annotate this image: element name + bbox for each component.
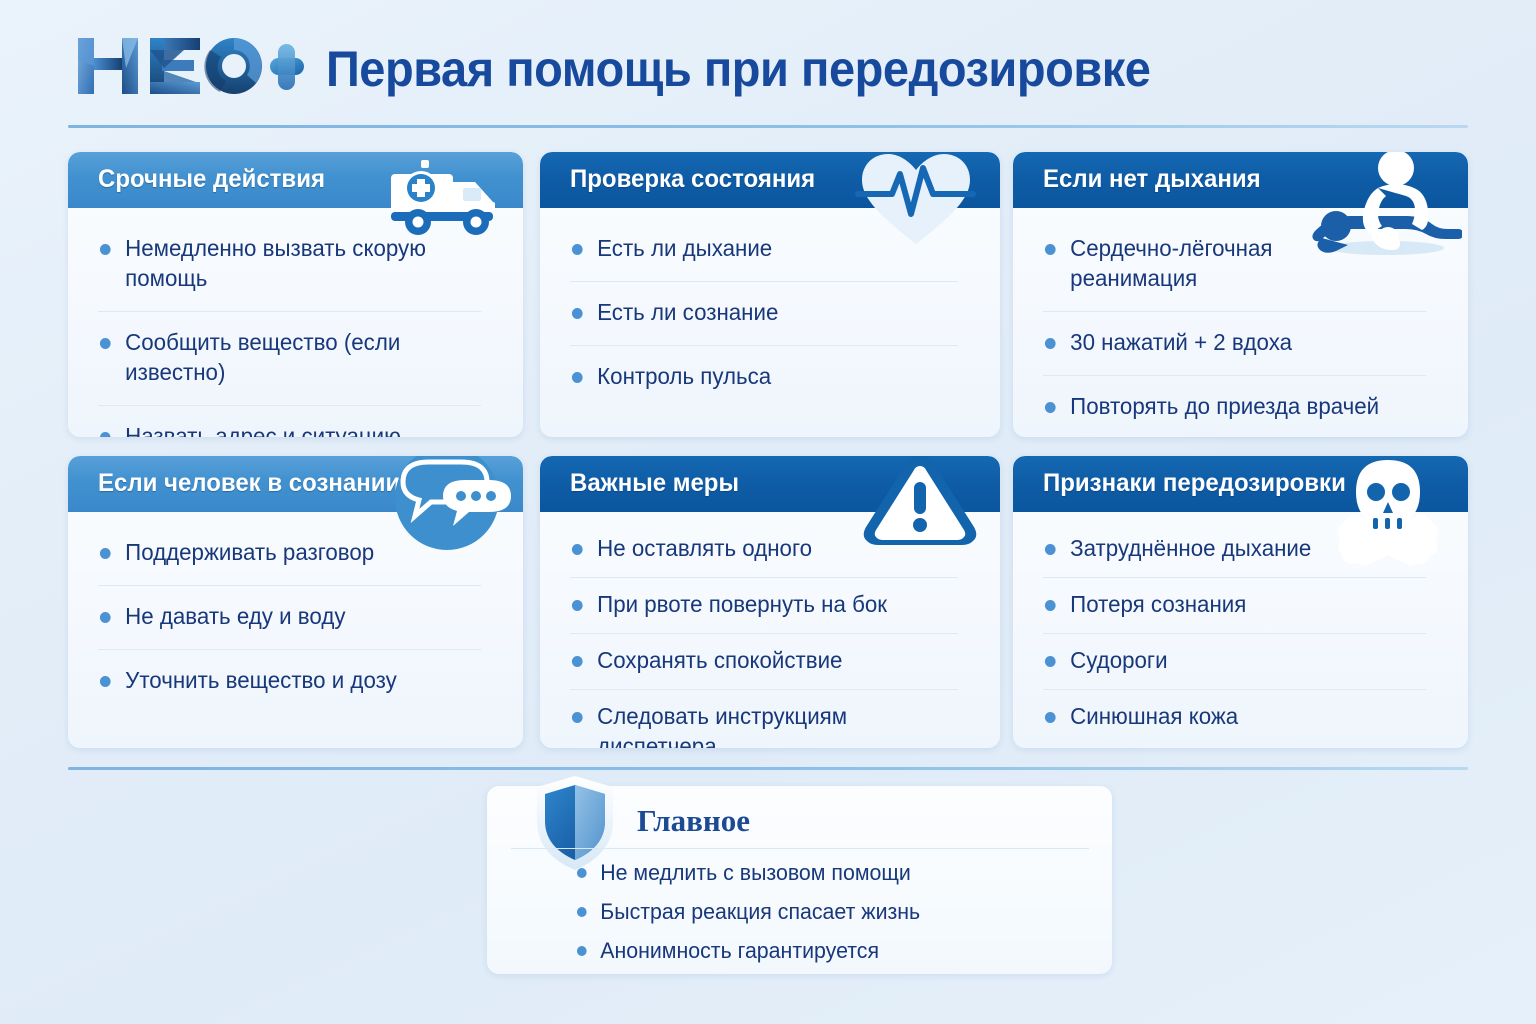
list-item-label: Уточнить вещество и дозу <box>125 667 397 693</box>
bullet-icon <box>577 907 587 917</box>
list-item[interactable]: Синюшная кожа <box>1043 702 1426 748</box>
bullet-icon <box>1045 338 1056 349</box>
bullet-icon <box>1045 600 1056 611</box>
list-item[interactable]: Назвать адрес и ситуацию <box>98 422 481 437</box>
bullet-icon <box>1045 402 1056 413</box>
bullet-icon <box>577 946 587 956</box>
list-item-label: Есть ли сознание <box>597 299 778 325</box>
bullet-icon <box>100 612 111 623</box>
list-item-label: Сохранять спокойствие <box>597 647 842 673</box>
list-item-label: 30 нажатий + 2 вдоха <box>1070 329 1292 355</box>
card-body: Не оставлять одного При рвоте повернуть … <box>540 512 1000 748</box>
card-urgent-actions[interactable]: Срочные действия <box>68 152 523 437</box>
list-item[interactable]: Сердечно-лёгочная реанимация <box>1043 234 1426 312</box>
bullet-icon <box>577 868 587 878</box>
card-header: Если нет дыхания <box>1013 152 1468 208</box>
list-item[interactable]: Поддерживать разговор <box>98 538 481 586</box>
card-no-breathing[interactable]: Если нет дыхания <box>1013 152 1468 437</box>
list-item-label: Не медлить с вызовом помощи <box>600 860 911 885</box>
bullet-icon <box>572 712 583 723</box>
list-item[interactable]: Судороги <box>1043 646 1426 690</box>
list-item[interactable]: Немедленно вызвать скорую помощь <box>98 234 481 312</box>
list-item-label: Повторять до приезда врачей <box>1070 393 1379 419</box>
list-item-label: Следовать инструкциям диспетчера <box>597 703 847 748</box>
list-item[interactable]: При рвоте повернуть на бок <box>570 590 958 634</box>
bullet-icon <box>572 372 583 383</box>
list-item-label: Сердечно-лёгочная реанимация <box>1070 234 1380 294</box>
list-item[interactable]: Контроль пульса <box>570 362 958 409</box>
list-item-label: Потеря сознания <box>1070 591 1246 617</box>
list-item[interactable]: Сохранять спокойствие <box>570 646 958 690</box>
infographic-poster: Первая помощь при передозировке Срочные … <box>0 0 1536 1024</box>
card-item-list: Не оставлять одного При рвоте повернуть … <box>570 534 970 748</box>
footer-divider <box>68 767 1468 770</box>
bullet-icon <box>1045 244 1056 255</box>
card-overdose-signs[interactable]: Признаки передозировки <box>1013 456 1468 748</box>
list-item[interactable]: Сообщить вещество (если известно) <box>98 328 481 406</box>
list-item-label: Контроль пульса <box>597 363 771 389</box>
card-title: Признаки передозировки <box>1043 469 1346 498</box>
list-item-label: Не оставлять одного <box>597 535 812 561</box>
list-item-label: Не давать еду и воду <box>125 603 345 629</box>
list-item[interactable]: Повторять до приезда врачей <box>1043 392 1426 437</box>
bullet-icon <box>100 676 111 687</box>
card-title: Срочные действия <box>98 165 325 194</box>
bullet-icon <box>100 244 111 255</box>
list-item-label: Судороги <box>1070 647 1167 673</box>
card-item-list: Сердечно-лёгочная реанимация 30 нажатий … <box>1043 234 1438 437</box>
list-item[interactable]: Уточнить вещество и дозу <box>98 666 481 713</box>
card-header: Важные меры <box>540 456 1000 512</box>
card-body: Сердечно-лёгочная реанимация 30 нажатий … <box>1013 208 1468 437</box>
list-item[interactable]: Затруднённое дыхание <box>1043 534 1426 578</box>
summary-panel[interactable]: Главное Не медлить с вызовом помощи Быст… <box>487 786 1112 974</box>
list-item-label: Есть ли дыхание <box>597 235 772 261</box>
bullet-icon <box>572 656 583 667</box>
list-item-label: Анонимность гарантируется <box>600 938 879 963</box>
card-header: Признаки передозировки <box>1013 456 1468 512</box>
card-body: Немедленно вызвать скорую помощь Сообщит… <box>68 208 523 437</box>
bullet-icon <box>572 544 583 555</box>
list-item-label: Сообщить вещество (если известно) <box>125 329 400 385</box>
card-title: Важные меры <box>570 469 739 498</box>
list-item[interactable]: Следовать инструкциям диспетчера <box>570 702 958 748</box>
poster-header: Первая помощь при передозировке <box>0 0 1536 126</box>
summary-divider <box>511 848 1089 849</box>
list-item[interactable]: Быстрая реакция спасает жизнь <box>575 901 920 923</box>
card-conscious-person[interactable]: Если человек в сознании Поддерживать раз… <box>68 456 523 748</box>
bullet-icon <box>100 432 111 437</box>
card-item-list: Поддерживать разговор Не давать еду и во… <box>98 538 493 713</box>
card-body: Поддерживать разговор Не давать еду и во… <box>68 512 523 747</box>
header-divider <box>68 125 1468 128</box>
list-item-label: Немедленно вызвать скорую помощь <box>125 235 426 291</box>
page-title: Первая помощь при передозировке <box>326 40 1150 98</box>
card-header: Проверка состояния <box>540 152 1000 208</box>
card-title: Если нет дыхания <box>1043 165 1261 194</box>
card-important-measures[interactable]: Важные меры Не оставлять одного При рвот… <box>540 456 1000 748</box>
list-item-label: Быстрая реакция спасает жизнь <box>600 899 920 924</box>
bullet-icon <box>100 338 111 349</box>
card-body: Затруднённое дыхание Потеря сознания Суд… <box>1013 512 1468 748</box>
card-item-list: Есть ли дыхание Есть ли сознание Контрол… <box>570 234 970 409</box>
card-title: Если человек в сознании <box>98 469 400 498</box>
list-item[interactable]: Есть ли дыхание <box>570 234 958 282</box>
card-item-list: Затруднённое дыхание Потеря сознания Суд… <box>1043 534 1438 748</box>
list-item[interactable]: Есть ли сознание <box>570 298 958 346</box>
card-condition-check[interactable]: Проверка состояния Есть ли дыхание Есть … <box>540 152 1000 437</box>
card-item-list: Немедленно вызвать скорую помощь Сообщит… <box>98 234 493 437</box>
list-item-label: Затруднённое дыхание <box>1070 535 1311 561</box>
card-title: Проверка состояния <box>570 165 815 194</box>
list-item[interactable]: Не медлить с вызовом помощи <box>575 862 920 884</box>
card-header: Срочные действия <box>68 152 523 208</box>
summary-title: Главное <box>637 803 750 839</box>
summary-item-list: Не медлить с вызовом помощи Быстрая реак… <box>575 862 931 979</box>
bullet-icon <box>572 600 583 611</box>
neo-plus-logo <box>74 30 304 102</box>
shield-icon <box>533 774 617 872</box>
bullet-icon <box>1045 544 1056 555</box>
bullet-icon <box>100 548 111 559</box>
list-item-label: При рвоте повернуть на бок <box>597 591 887 617</box>
bullet-icon <box>1045 656 1056 667</box>
list-item[interactable]: Не оставлять одного <box>570 534 958 578</box>
card-body: Есть ли дыхание Есть ли сознание Контрол… <box>540 208 1000 437</box>
list-item-label: Назвать адрес и ситуацию <box>125 423 401 437</box>
list-item-label: Синюшная кожа <box>1070 703 1238 729</box>
card-header: Если человек в сознании <box>68 456 523 512</box>
list-item-label: Поддерживать разговор <box>125 539 374 565</box>
bullet-icon <box>1045 712 1056 723</box>
list-item[interactable]: Анонимность гарантируется <box>575 940 920 962</box>
bullet-icon <box>572 308 583 319</box>
bullet-icon <box>572 244 583 255</box>
list-item[interactable]: 30 нажатий + 2 вдоха <box>1043 328 1426 376</box>
list-item[interactable]: Не давать еду и воду <box>98 602 481 650</box>
list-item[interactable]: Потеря сознания <box>1043 590 1426 634</box>
